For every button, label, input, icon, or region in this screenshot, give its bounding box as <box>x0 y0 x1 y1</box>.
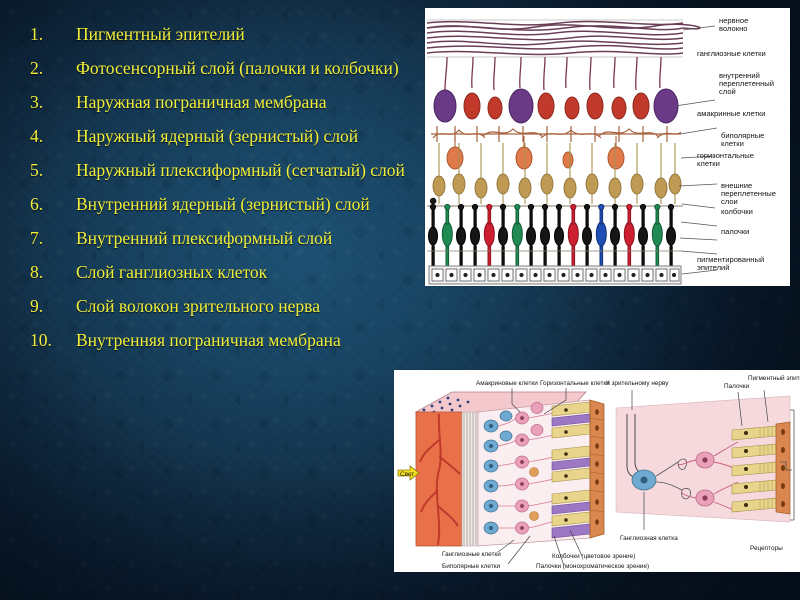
list-item: 10. Внутренняя пограничная мембрана <box>18 328 410 353</box>
label-horizontal-cells: Горизонтальные клетки <box>540 380 610 387</box>
list-item-label: Внутренняя пограничная мембрана <box>76 328 341 353</box>
label-cones-color: Колбочки (цветовое зрение) <box>552 552 635 560</box>
list-item-number: 8. <box>18 260 76 285</box>
list-item-label: Наружная пограничная мембрана <box>76 90 326 115</box>
label-ganglion-cells: Ганглиозные клетки <box>442 551 501 558</box>
label-pigment-epithelium-2: эпителий <box>697 263 730 272</box>
list-item-label: Слой волокон зрительного нерва <box>76 294 320 319</box>
retina-block-diagram <box>398 392 604 546</box>
label-light: Свет <box>400 471 414 478</box>
label-amacrine-cells: Амакриновые клетки <box>476 380 538 387</box>
list-item: 5. Наружный плексиформный (сетчатый) сло… <box>18 158 410 183</box>
list-item: 7. Внутренний плексиформный слой <box>18 226 410 251</box>
label-amacrine-cells: амакринные клетки <box>697 109 766 118</box>
label-cones: колбочки <box>721 207 753 216</box>
list-item-number: 10. <box>18 328 76 353</box>
label-outer-plexiform-3: слои <box>721 197 738 206</box>
list-item: 3. Наружная пограничная мембрана <box>18 90 410 115</box>
list-item-number: 3. <box>18 90 76 115</box>
list-item-number: 6. <box>18 192 76 217</box>
retina-3d-figure: Свет Амакриновые клетки Горизонтальные к… <box>394 370 800 572</box>
label-rods: Палочки <box>724 383 749 390</box>
retina-layers-list: 1. Пигментный эпителий 2. Фотосенсорный … <box>18 22 410 362</box>
pigment-epithelium-layer <box>429 266 681 284</box>
block-pigment-epithelium <box>590 400 604 538</box>
label-horizontal-cells-2: клетки <box>697 159 720 168</box>
list-item: 9. Слой волокон зрительного нерва <box>18 294 410 319</box>
label-ganglion-cells: ганглиозные клетки <box>697 49 766 58</box>
list-item-label: Наружный плексиформный (сетчатый) слой <box>76 158 405 183</box>
label-inner-plexiform-3: слой <box>719 87 736 96</box>
retina-histology-figure: нервное волокно ганглиозные клетки внутр… <box>425 8 790 286</box>
list-item: 1. Пигментный эпителий <box>18 22 410 47</box>
list-item-number: 5. <box>18 158 76 183</box>
list-item-number: 1. <box>18 22 76 47</box>
label-pigment-epithelium: Пигментный эпителий <box>748 374 800 382</box>
list-item-number: 7. <box>18 226 76 251</box>
list-item: 2. Фотосенсорный слой (палочки и колбочк… <box>18 56 410 81</box>
label-rods: палочки <box>721 227 749 236</box>
list-item-label: Внутренний плексиформный слой <box>76 226 332 251</box>
list-item-label: Слой ганглиозных клеток <box>76 260 267 285</box>
list-item: 6. Внутренний ядерный (зернистый) слой <box>18 192 410 217</box>
list-item-label: Пигментный эпителий <box>76 22 245 47</box>
list-item-label: Внутренний ядерный (зернистый) слой <box>76 192 370 217</box>
list-item: 4. Наружный ядерный (зернистый) слой <box>18 124 410 149</box>
list-item-number: 2. <box>18 56 76 81</box>
label-receptors: Рецепторы <box>750 545 783 552</box>
label-bipolar-cells-2: клетки <box>721 139 744 148</box>
label-rods-mono: Палочки (монохроматическое зрение) <box>536 563 649 570</box>
list-item-label: Наружный ядерный (зернистый) слой <box>76 124 358 149</box>
list-item-label: Фотосенсорный слой (палочки и колбочки) <box>76 56 399 81</box>
label-ganglion-cell: Ганглиозная клетка <box>620 535 678 542</box>
label-bipolar-cells: Биполярные клетки <box>442 563 500 570</box>
list-item-number: 9. <box>18 294 76 319</box>
label-to-optic-nerve: К зрительному нерву <box>606 380 669 387</box>
presentation-slide: 1. Пигментный эпителий 2. Фотосенсорный … <box>0 0 800 600</box>
list-item: 8. Слой ганглиозных клеток <box>18 260 410 285</box>
label-nerve-fiber-2: волокно <box>719 24 747 33</box>
list-item-number: 4. <box>18 124 76 149</box>
